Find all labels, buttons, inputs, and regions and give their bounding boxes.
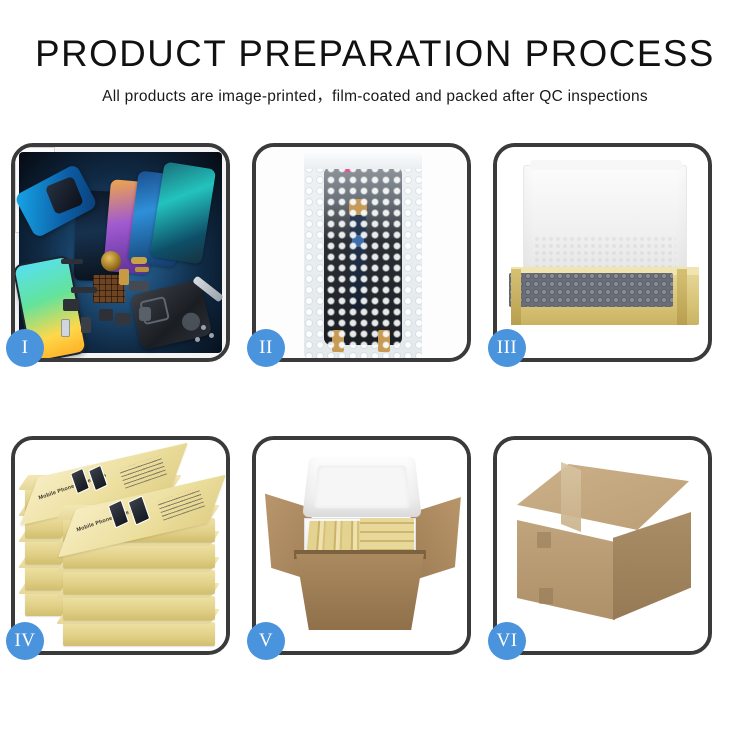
step-badge-1: I (6, 329, 44, 367)
page-root: PRODUCT PREPARATION PROCESS All products… (0, 0, 750, 750)
retail-box-icon (63, 570, 215, 594)
spare-part-icon (61, 319, 70, 337)
page-title: PRODUCT PREPARATION PROCESS (4, 33, 747, 75)
process-row-top: I II (11, 143, 740, 362)
spare-part-icon (139, 307, 151, 321)
step-panel-3[interactable]: III (493, 143, 712, 362)
carton-body-icon (296, 554, 424, 630)
retail-box-icon (63, 596, 215, 620)
page-subtitle: All products are image-printed，film-coat… (0, 84, 750, 106)
carton-top-face-icon (517, 464, 689, 530)
step-panel-4[interactable]: Mobile Phone Spare Parts Mobile Phone Sp… (11, 436, 230, 655)
spare-part-icon (129, 281, 149, 291)
step-image-3 (497, 147, 708, 358)
carton-front-face-icon (517, 520, 615, 620)
step-image-2 (256, 147, 467, 358)
tray-end-icon (511, 269, 521, 325)
spare-part-icon (131, 257, 147, 264)
step-badge-3: III (488, 329, 526, 367)
step-panel-2[interactable]: II (252, 143, 471, 362)
carton-tape-icon (561, 462, 581, 532)
step-panel-6[interactable]: VI (493, 436, 712, 655)
screw-icon (209, 333, 214, 338)
carton-seal-icon (539, 588, 553, 604)
foam-lid-open-icon (302, 457, 421, 517)
step-badge-5: V (247, 622, 285, 660)
bag-seal-icon (304, 153, 422, 169)
process-row-bottom: Mobile Phone Spare Parts Mobile Phone Sp… (11, 436, 740, 655)
step-badge-6: VI (488, 622, 526, 660)
tray-end-icon (677, 269, 687, 325)
step-image-5 (256, 440, 467, 651)
process-grid: I II (11, 143, 740, 655)
spare-part-icon (81, 317, 91, 333)
step-badge-2: II (247, 329, 285, 367)
spare-part-icon (135, 267, 149, 272)
spare-part-icon (61, 259, 83, 264)
spare-part-icon (99, 309, 113, 321)
step-image-4: Mobile Phone Spare Parts Mobile Phone Sp… (15, 440, 226, 651)
carton-seal-icon (537, 532, 551, 548)
step-panel-1[interactable]: I (11, 143, 230, 362)
spare-part-icon (63, 299, 79, 311)
copper-coil-icon (101, 251, 121, 271)
spare-part-icon (119, 269, 129, 285)
step-badge-4: IV (6, 622, 44, 660)
step-image-6 (497, 440, 708, 651)
box-stack-icon: Mobile Phone Spare Parts Mobile Phone Sp… (15, 440, 226, 651)
bubble-wrap-bag-icon (304, 153, 422, 358)
step-panel-5[interactable]: V (252, 436, 471, 655)
spare-part-icon (71, 287, 97, 293)
spare-part-icon (115, 313, 131, 325)
carton-side-face-icon (613, 512, 691, 620)
step-image-1 (15, 147, 226, 358)
screw-icon (201, 325, 206, 330)
retail-box-icon (63, 622, 215, 646)
bubble-texture-icon (304, 153, 422, 358)
header: PRODUCT PREPARATION PROCESS All products… (0, 0, 750, 106)
screw-icon (195, 337, 200, 342)
packed-contents-icon (509, 273, 673, 307)
